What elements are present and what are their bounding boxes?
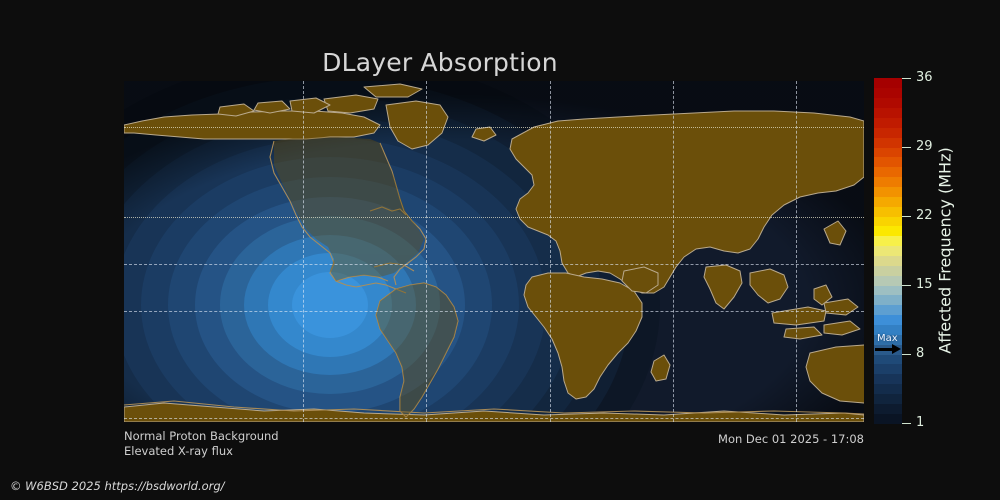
colorbar-segment (874, 137, 902, 147)
colorbar-segment (874, 305, 902, 315)
max-marker-label: Max (874, 334, 904, 344)
colorbar-segment (874, 255, 902, 265)
colorbar-tick-dash (902, 78, 911, 79)
colorbar-segment (874, 98, 902, 108)
colorbar-segment (874, 364, 902, 374)
colorbar-segment (874, 246, 902, 256)
colorbar-segment (874, 354, 902, 364)
colorbar-segment (874, 117, 902, 127)
proton-status: Normal Proton Background (124, 429, 279, 444)
colorbar-segment (874, 393, 902, 403)
colorbar-segment (874, 78, 902, 88)
colorbar-tick-label: 8 (916, 347, 924, 360)
colorbar-title-text: Affected Frequency (MHz) (936, 147, 955, 353)
colorbar-tick-dash (902, 354, 911, 355)
colorbar-tick-dash (902, 423, 911, 424)
colorbar-segment (874, 216, 902, 226)
map-canvas (124, 81, 864, 422)
colorbar-segment (874, 275, 902, 285)
colorbar-segment (874, 88, 902, 98)
colorbar-tick-dash (902, 216, 911, 217)
colorbar-segment (874, 315, 902, 325)
colorbar-segment (874, 226, 902, 236)
colorbar[interactable] (874, 78, 902, 423)
max-marker-arrow (874, 344, 904, 354)
timestamp: Mon Dec 01 2025 - 17:08 (718, 432, 864, 446)
colorbar-segment (874, 413, 902, 423)
colorbar-segment (874, 108, 902, 118)
colorbar-tick-dash (902, 147, 911, 148)
colorbar-segment (874, 147, 902, 157)
colorbar-tick-dash (902, 285, 911, 286)
colorbar-segment (874, 285, 902, 295)
colorbar-segment (874, 265, 902, 275)
colorbar-title: Affected Frequency (MHz) (930, 78, 960, 423)
colorbar-segment (874, 167, 902, 177)
copyright-notice: © W6BSD 2025 https://bsdworld.org/ (10, 479, 225, 493)
colorbar-segment (874, 374, 902, 384)
colorbar-max-marker: Max (874, 334, 904, 354)
dlayer-absorption-page: DLayer Absorption (0, 0, 1000, 500)
colorbar-segment (874, 177, 902, 187)
colorbar-segment (874, 236, 902, 246)
world-map[interactable] (124, 81, 864, 422)
colorbar-segment (874, 295, 902, 305)
colorbar-segment (874, 196, 902, 206)
colorbar-segment (874, 186, 902, 196)
xray-status: Elevated X-ray flux (124, 444, 279, 459)
colorbar-tick-label: 1 (916, 416, 924, 429)
colorbar-segment (874, 157, 902, 167)
colorbar-segment (874, 384, 902, 394)
status-captions: Normal Proton Background Elevated X-ray … (124, 429, 279, 459)
colorbar-segment (874, 206, 902, 216)
colorbar-gradient (874, 78, 902, 423)
colorbar-segment (874, 127, 902, 137)
page-title: DLayer Absorption (0, 48, 880, 77)
colorbar-segment (874, 403, 902, 413)
